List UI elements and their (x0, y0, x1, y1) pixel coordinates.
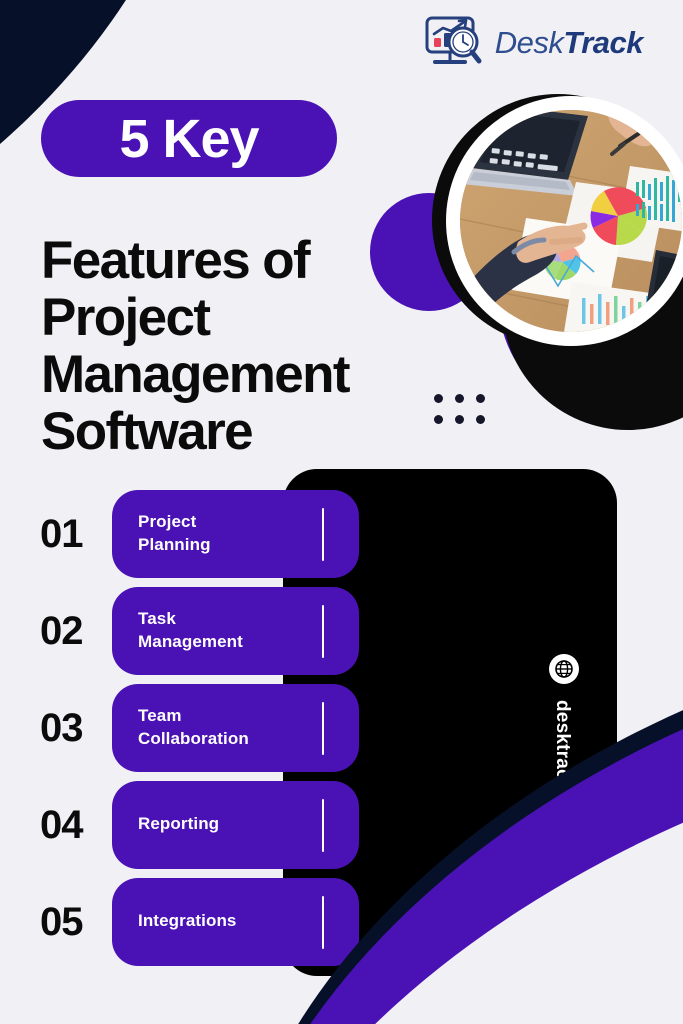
feature-divider (322, 702, 324, 755)
feature-divider (322, 508, 324, 561)
feature-item[interactable]: 03 Team Collaboration (0, 679, 683, 776)
feature-pill[interactable]: Integrations (112, 878, 359, 966)
feature-label: Task Management (138, 608, 243, 654)
dot (455, 394, 464, 403)
feature-list: 01 Project Planning 02 Task Management 0… (0, 485, 683, 970)
feature-label: Reporting (138, 813, 219, 836)
brand-name-part2: Track (563, 25, 643, 60)
feature-divider (322, 605, 324, 658)
feature-divider (322, 799, 324, 852)
hero-badge: 5 Key (41, 100, 337, 177)
hero-badge-label: 5 Key (119, 112, 258, 166)
website-url[interactable]: desktrack.timentask.com (551, 700, 573, 932)
infographic-poster: DeskTrack (0, 0, 683, 1024)
feature-number: 04 (40, 805, 112, 845)
dot-grid-decoration (434, 394, 485, 424)
dot (476, 394, 485, 403)
feature-pill[interactable]: Task Management (112, 587, 359, 675)
feature-number: 05 (40, 902, 112, 942)
feature-number: 01 (40, 514, 112, 554)
feature-number: 02 (40, 611, 112, 651)
feature-label: Integrations (138, 910, 237, 933)
feature-item[interactable]: 02 Task Management (0, 582, 683, 679)
brand-logo[interactable]: DeskTrack (423, 16, 643, 70)
feature-item[interactable]: 01 Project Planning (0, 485, 683, 582)
dot (455, 415, 464, 424)
feature-pill[interactable]: Team Collaboration (112, 684, 359, 772)
feature-item[interactable]: 05 Integrations (0, 873, 683, 970)
feature-pill[interactable]: Project Planning (112, 490, 359, 578)
feature-number: 03 (40, 708, 112, 748)
globe-icon (549, 654, 579, 684)
hero-photo (424, 86, 682, 434)
brand-name-part1: Desk (495, 25, 564, 60)
dot (434, 415, 443, 424)
page-title: Features of Project Management Software (41, 232, 411, 461)
feature-label: Project Planning (138, 511, 211, 557)
brand-name: DeskTrack (495, 25, 643, 61)
monitor-chart-clock-icon (423, 16, 487, 70)
feature-item[interactable]: 04 Reporting (0, 776, 683, 873)
feature-divider (322, 896, 324, 949)
photo-image (460, 110, 682, 332)
dot (434, 394, 443, 403)
dot (476, 415, 485, 424)
feature-pill[interactable]: Reporting (112, 781, 359, 869)
feature-label: Team Collaboration (138, 705, 249, 751)
